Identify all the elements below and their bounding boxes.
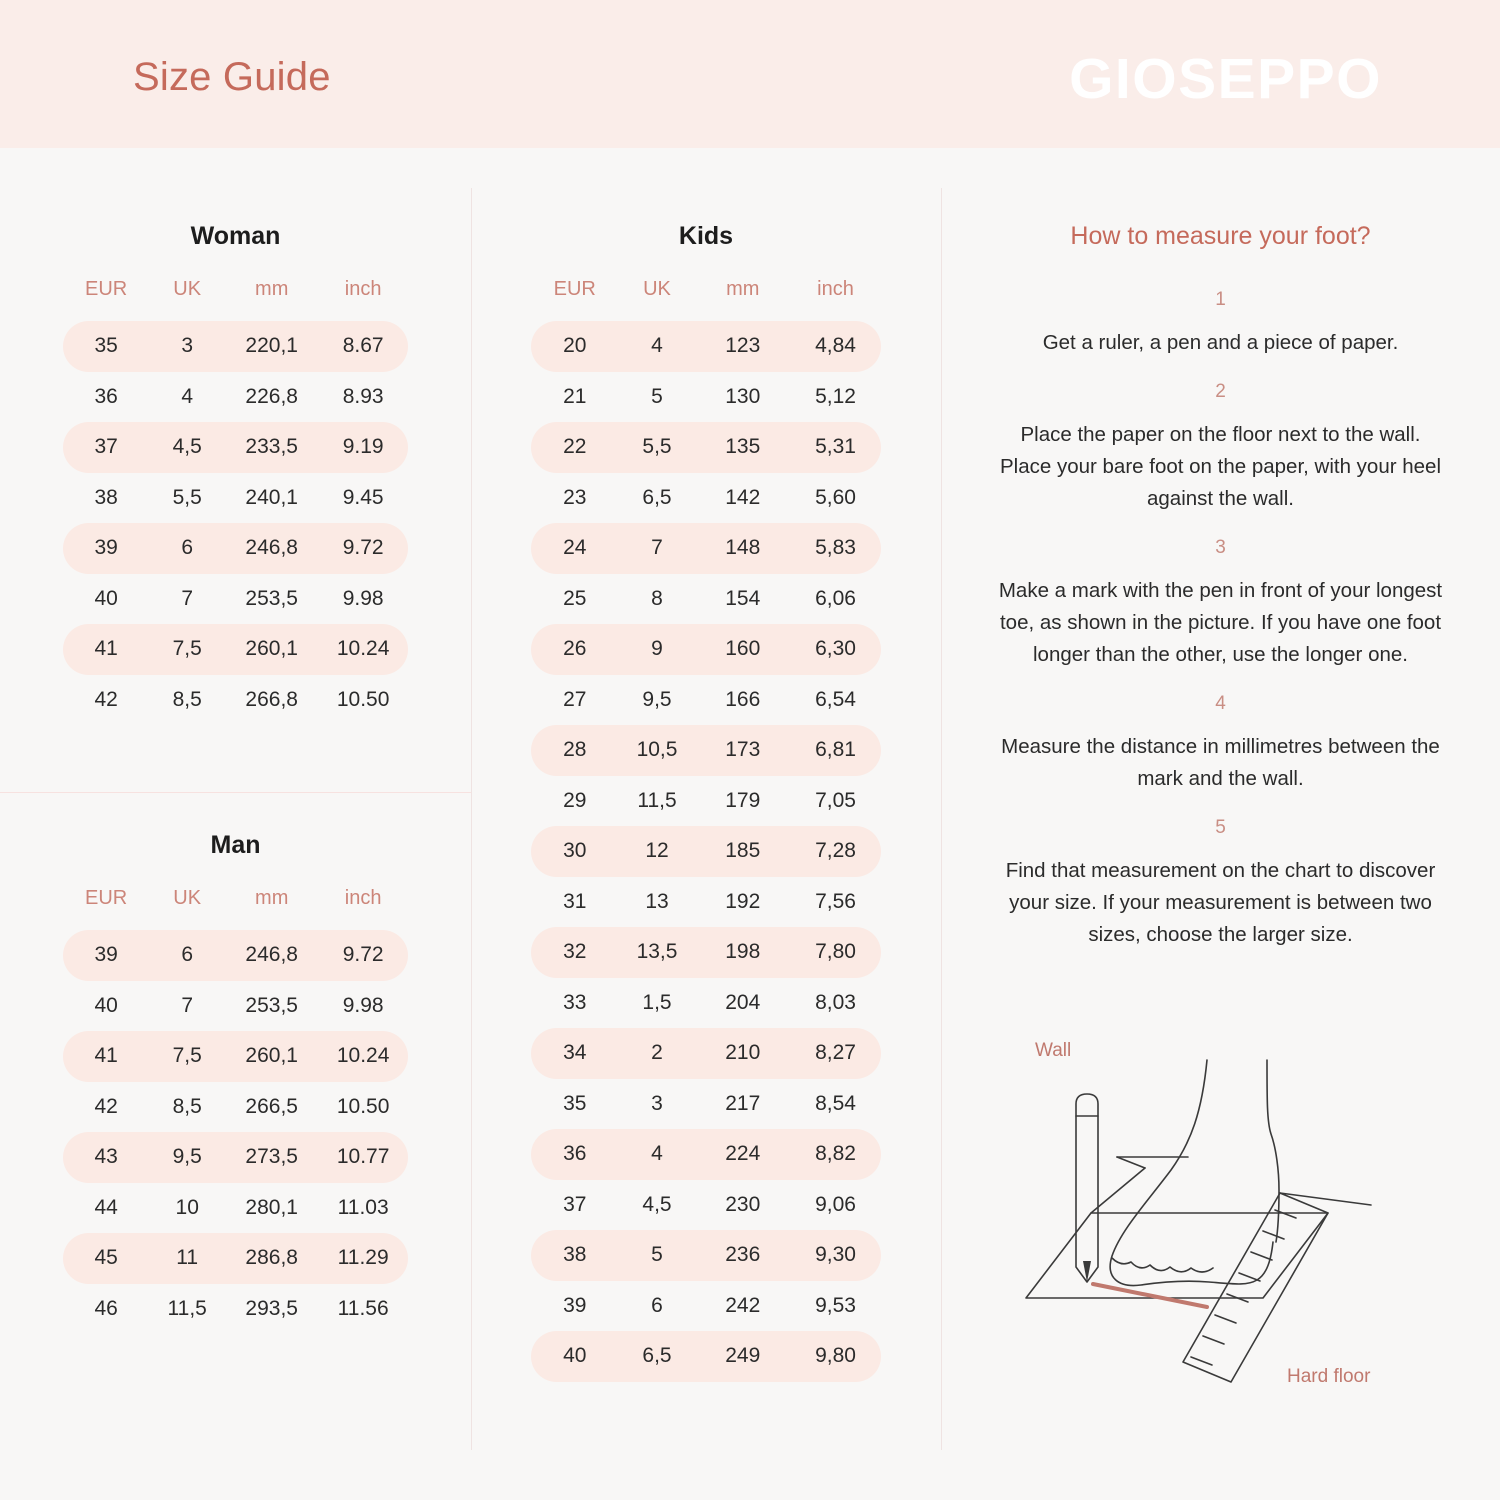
table-row: 374,5233,59.19 — [63, 422, 408, 473]
table-cell-eur: 42 — [63, 675, 149, 726]
table-cell-uk: 7 — [149, 574, 225, 625]
table-man: EUR UK mm inch 396246,89.72407253,59.984… — [63, 887, 408, 1334]
table-title-kids: Kids — [471, 222, 941, 251]
table-cell-eur: 45 — [63, 1233, 149, 1284]
paper-sheet — [1026, 1213, 1328, 1298]
table-cell-uk: 9,5 — [149, 1132, 225, 1183]
table-row: 364226,88.93 — [63, 372, 408, 423]
table-cell-inch: 8,54 — [790, 1079, 881, 1130]
how-to-measure-title: How to measure your foot? — [941, 222, 1500, 251]
table-cell-inch: 9,80 — [790, 1331, 881, 1382]
table-cell-eur: 24 — [531, 523, 619, 574]
table-row: 236,51425,60 — [531, 473, 881, 524]
table-cell-eur: 39 — [63, 930, 149, 981]
table-cell-mm: 210 — [696, 1028, 791, 1079]
pen-mark-line — [1093, 1284, 1207, 1307]
table-cell-eur: 25 — [531, 574, 619, 625]
table-cell-mm: 192 — [696, 877, 791, 928]
table-header-row: EUR UK mm inch — [531, 278, 881, 321]
table-cell-mm: 226,8 — [225, 372, 318, 423]
table-title-woman: Woman — [0, 222, 471, 251]
table-cell-uk: 4 — [619, 321, 696, 372]
size-table-man: Man EUR UK mm inch 396246,89.72407253,59… — [0, 831, 471, 1334]
table-cell-uk: 9 — [619, 624, 696, 675]
table-cell-eur: 41 — [63, 624, 149, 675]
table-cell-uk: 11 — [149, 1233, 225, 1284]
table-row: 374,52309,06 — [531, 1180, 881, 1231]
table-cell-eur: 21 — [531, 372, 619, 423]
table-cell-mm: 135 — [696, 422, 791, 473]
size-table-woman: Woman EUR UK mm inch 353220,18.67364226,… — [0, 222, 471, 725]
column-header-mm: mm — [225, 887, 318, 930]
table-cell-mm: 123 — [696, 321, 791, 372]
table-cell-inch: 10.24 — [318, 624, 408, 675]
table-row: 2691606,30 — [531, 624, 881, 675]
column-header-inch: inch — [790, 278, 881, 321]
table-header-row: EUR UK mm inch — [63, 278, 408, 321]
table-cell-mm: 266,5 — [225, 1082, 318, 1133]
table-cell-eur: 37 — [63, 422, 149, 473]
table-row: 30121857,28 — [531, 826, 881, 877]
table-cell-inch: 10.50 — [318, 1082, 408, 1133]
table-cell-mm: 230 — [696, 1180, 791, 1231]
table-row: 417,5260,110.24 — [63, 624, 408, 675]
table-cell-inch: 6,06 — [790, 574, 881, 625]
table-row: 3532178,54 — [531, 1079, 881, 1130]
table-cell-inch: 11.56 — [318, 1284, 408, 1335]
table-cell-inch: 5,31 — [790, 422, 881, 473]
table-cell-uk: 3 — [149, 321, 225, 372]
table-cell-eur: 28 — [531, 725, 619, 776]
table-cell-eur: 30 — [531, 826, 619, 877]
table-cell-inch: 8,82 — [790, 1129, 881, 1180]
table-cell-inch: 6,81 — [790, 725, 881, 776]
table-body-kids: 2041234,842151305,12225,51355,31236,5142… — [531, 321, 881, 1382]
table-cell-uk: 8 — [619, 574, 696, 625]
column-header-mm: mm — [225, 278, 318, 321]
table-row: 279,51666,54 — [531, 675, 881, 726]
table-cell-inch: 4,84 — [790, 321, 881, 372]
table-cell-eur: 40 — [531, 1331, 619, 1382]
table-row: 2151305,12 — [531, 372, 881, 423]
table-row: 3852369,30 — [531, 1230, 881, 1281]
table-cell-uk: 1,5 — [619, 978, 696, 1029]
table-row: 3642248,82 — [531, 1129, 881, 1180]
table-cell-mm: 148 — [696, 523, 791, 574]
table-cell-mm: 160 — [696, 624, 791, 675]
table-cell-mm: 260,1 — [225, 624, 318, 675]
brand-logo: GIOSEPPO — [1069, 46, 1382, 112]
table-cell-uk: 2 — [619, 1028, 696, 1079]
table-cell-eur: 38 — [531, 1230, 619, 1281]
column-header-uk: UK — [149, 278, 225, 321]
table-cell-uk: 6 — [149, 930, 225, 981]
table-cell-uk: 5 — [619, 372, 696, 423]
table-cell-mm: 142 — [696, 473, 791, 524]
table-cell-mm: 249 — [696, 1331, 791, 1382]
table-cell-mm: 173 — [696, 725, 791, 776]
table-cell-mm: 266,8 — [225, 675, 318, 726]
column-header-eur: EUR — [63, 887, 149, 930]
table-cell-eur: 38 — [63, 473, 149, 524]
column-header-uk: UK — [619, 278, 696, 321]
table-cell-inch: 10.77 — [318, 1132, 408, 1183]
table-cell-eur: 22 — [531, 422, 619, 473]
table-cell-inch: 8,27 — [790, 1028, 881, 1079]
table-cell-mm: 242 — [696, 1281, 791, 1332]
table-cell-inch: 10.50 — [318, 675, 408, 726]
table-cell-mm: 240,1 — [225, 473, 318, 524]
table-row: 3422108,27 — [531, 1028, 881, 1079]
table-cell-eur: 36 — [63, 372, 149, 423]
table-cell-inch: 5,12 — [790, 372, 881, 423]
table-cell-inch: 9,30 — [790, 1230, 881, 1281]
table-row: 31131927,56 — [531, 877, 881, 928]
table-cell-inch: 6,54 — [790, 675, 881, 726]
table-cell-mm: 260,1 — [225, 1031, 318, 1082]
table-cell-mm: 246,8 — [225, 930, 318, 981]
table-row: 396246,89.72 — [63, 930, 408, 981]
step-text: Measure the distance in millimetres betw… — [941, 731, 1500, 795]
table-cell-uk: 10 — [149, 1183, 225, 1234]
table-cell-uk: 5,5 — [619, 422, 696, 473]
table-cell-eur: 35 — [531, 1079, 619, 1130]
page-header: Size Guide GIOSEPPO — [0, 0, 1500, 148]
table-header-row: EUR UK mm inch — [63, 887, 408, 930]
table-row: 353220,18.67 — [63, 321, 408, 372]
foot-outline-back — [1267, 1060, 1279, 1242]
table-row: 3213,51987,80 — [531, 927, 881, 978]
column-header-inch: inch — [318, 887, 408, 930]
table-row: 4611,5293,511.56 — [63, 1284, 408, 1335]
table-cell-uk: 6 — [149, 523, 225, 574]
table-cell-mm: 273,5 — [225, 1132, 318, 1183]
table-cell-inch: 9,06 — [790, 1180, 881, 1231]
table-row: 407253,59.98 — [63, 981, 408, 1032]
table-cell-inch: 11.03 — [318, 1183, 408, 1234]
column-header-uk: UK — [149, 887, 225, 930]
table-cell-eur: 35 — [63, 321, 149, 372]
how-to-measure-section: How to measure your foot? 1Get a ruler, … — [941, 222, 1500, 973]
size-guide-page: Size Guide GIOSEPPO Woman EUR UK mm inch… — [0, 0, 1500, 1500]
table-cell-uk: 11,5 — [149, 1284, 225, 1335]
table-cell-mm: 130 — [696, 372, 791, 423]
how-to-steps: 1Get a ruler, a pen and a piece of paper… — [941, 289, 1500, 951]
table-cell-mm: 246,8 — [225, 523, 318, 574]
table-cell-eur: 29 — [531, 776, 619, 827]
table-cell-mm: 253,5 — [225, 574, 318, 625]
step-number: 1 — [941, 289, 1500, 311]
table-cell-eur: 32 — [531, 927, 619, 978]
table-cell-eur: 39 — [63, 523, 149, 574]
table-cell-mm: 154 — [696, 574, 791, 625]
table-cell-mm: 179 — [696, 776, 791, 827]
table-cell-uk: 11,5 — [619, 776, 696, 827]
table-row: 396246,89.72 — [63, 523, 408, 574]
table-cell-uk: 5,5 — [149, 473, 225, 524]
table-title-man: Man — [0, 831, 471, 860]
table-cell-eur: 34 — [531, 1028, 619, 1079]
table-cell-uk: 5 — [619, 1230, 696, 1281]
table-cell-inch: 7,80 — [790, 927, 881, 978]
table-cell-mm: 233,5 — [225, 422, 318, 473]
table-cell-uk: 7,5 — [149, 624, 225, 675]
step-text: Make a mark with the pen in front of you… — [941, 575, 1500, 671]
table-cell-eur: 40 — [63, 574, 149, 625]
table-cell-eur: 23 — [531, 473, 619, 524]
table-row: 3962429,53 — [531, 1281, 881, 1332]
table-cell-eur: 39 — [531, 1281, 619, 1332]
table-row: 331,52048,03 — [531, 978, 881, 1029]
table-cell-inch: 6,30 — [790, 624, 881, 675]
table-cell-inch: 5,83 — [790, 523, 881, 574]
table-cell-uk: 4,5 — [619, 1180, 696, 1231]
table-cell-uk: 4,5 — [149, 422, 225, 473]
step-number: 2 — [941, 381, 1500, 403]
table-cell-mm: 286,8 — [225, 1233, 318, 1284]
toes-detail — [1112, 1258, 1213, 1272]
step-text: Place the paper on the floor next to the… — [941, 419, 1500, 515]
table-row: 439,5273,510.77 — [63, 1132, 408, 1183]
pencil — [1076, 1094, 1098, 1282]
table-body-man: 396246,89.72407253,59.98417,5260,110.244… — [63, 930, 408, 1334]
table-cell-inch: 7,28 — [790, 826, 881, 877]
ruler — [1183, 1193, 1328, 1382]
table-cell-mm: 185 — [696, 826, 791, 877]
table-cell-uk: 6,5 — [619, 1331, 696, 1382]
table-cell-eur: 41 — [63, 1031, 149, 1082]
table-row: 417,5260,110.24 — [63, 1031, 408, 1082]
table-row: 2581546,06 — [531, 574, 881, 625]
table-cell-inch: 9.98 — [318, 574, 408, 625]
table-cell-eur: 31 — [531, 877, 619, 928]
step-number: 3 — [941, 537, 1500, 559]
table-cell-inch: 11.29 — [318, 1233, 408, 1284]
label-hard-floor: Hard floor — [1287, 1366, 1370, 1388]
table-cell-eur: 37 — [531, 1180, 619, 1231]
table-cell-eur: 42 — [63, 1082, 149, 1133]
table-cell-inch: 10.24 — [318, 1031, 408, 1082]
page-title: Size Guide — [133, 55, 331, 100]
table-cell-mm: 220,1 — [225, 321, 318, 372]
foot-measure-illustration: Wall Hard floor — [995, 1030, 1465, 1405]
table-cell-uk: 13 — [619, 877, 696, 928]
table-row: 428,5266,510.50 — [63, 1082, 408, 1133]
table-cell-mm: 224 — [696, 1129, 791, 1180]
table-cell-uk: 6,5 — [619, 473, 696, 524]
table-cell-uk: 7 — [619, 523, 696, 574]
table-cell-uk: 7 — [149, 981, 225, 1032]
table-cell-eur: 27 — [531, 675, 619, 726]
step-number: 5 — [941, 817, 1500, 839]
table-cell-mm: 293,5 — [225, 1284, 318, 1335]
foot-outline-front — [1110, 1060, 1273, 1286]
foot-diagram-svg — [995, 1030, 1465, 1405]
table-cell-uk: 6 — [619, 1281, 696, 1332]
table-row: 4410280,111.03 — [63, 1183, 408, 1234]
table-cell-uk: 4 — [619, 1129, 696, 1180]
step-number: 4 — [941, 693, 1500, 715]
table-cell-eur: 20 — [531, 321, 619, 372]
table-cell-mm: 204 — [696, 978, 791, 1029]
table-cell-eur: 40 — [63, 981, 149, 1032]
table-cell-mm: 198 — [696, 927, 791, 978]
table-cell-mm: 236 — [696, 1230, 791, 1281]
size-table-kids: Kids EUR UK mm inch 2041234,842151305,12… — [471, 222, 941, 1382]
table-cell-inch: 9.72 — [318, 930, 408, 981]
table-cell-uk: 10,5 — [619, 725, 696, 776]
table-cell-inch: 7,56 — [790, 877, 881, 928]
column-header-mm: mm — [696, 278, 791, 321]
table-woman: EUR UK mm inch 353220,18.67364226,88.933… — [63, 278, 408, 725]
table-cell-uk: 4 — [149, 372, 225, 423]
table-cell-uk: 12 — [619, 826, 696, 877]
table-row: 225,51355,31 — [531, 422, 881, 473]
table-cell-inch: 9.45 — [318, 473, 408, 524]
column-header-eur: EUR — [63, 278, 149, 321]
column-header-inch: inch — [318, 278, 408, 321]
table-cell-uk: 9,5 — [619, 675, 696, 726]
table-cell-inch: 5,60 — [790, 473, 881, 524]
label-wall: Wall — [1035, 1040, 1071, 1062]
table-cell-uk: 8,5 — [149, 1082, 225, 1133]
table-cell-inch: 9.19 — [318, 422, 408, 473]
step-text: Find that measurement on the chart to di… — [941, 855, 1500, 951]
table-row: 4511286,811.29 — [63, 1233, 408, 1284]
table-cell-mm: 217 — [696, 1079, 791, 1130]
table-cell-inch: 9.72 — [318, 523, 408, 574]
woman-man-divider — [0, 792, 471, 793]
table-cell-eur: 26 — [531, 624, 619, 675]
table-cell-uk: 7,5 — [149, 1031, 225, 1082]
table-row: 385,5240,19.45 — [63, 473, 408, 524]
table-cell-eur: 43 — [63, 1132, 149, 1183]
table-cell-mm: 280,1 — [225, 1183, 318, 1234]
table-cell-uk: 8,5 — [149, 675, 225, 726]
column-header-eur: EUR — [531, 278, 619, 321]
table-cell-uk: 13,5 — [619, 927, 696, 978]
table-cell-inch: 9,53 — [790, 1281, 881, 1332]
table-cell-inch: 8.93 — [318, 372, 408, 423]
table-row: 2911,51797,05 — [531, 776, 881, 827]
table-cell-eur: 36 — [531, 1129, 619, 1180]
table-row: 2810,51736,81 — [531, 725, 881, 776]
table-cell-eur: 46 — [63, 1284, 149, 1335]
table-body-woman: 353220,18.67364226,88.93374,5233,59.1938… — [63, 321, 408, 725]
table-cell-inch: 9.98 — [318, 981, 408, 1032]
table-cell-mm: 166 — [696, 675, 791, 726]
table-row: 2471485,83 — [531, 523, 881, 574]
table-cell-eur: 44 — [63, 1183, 149, 1234]
table-kids: EUR UK mm inch 2041234,842151305,12225,5… — [531, 278, 881, 1382]
table-cell-inch: 8.67 — [318, 321, 408, 372]
table-row: 428,5266,810.50 — [63, 675, 408, 726]
table-row: 2041234,84 — [531, 321, 881, 372]
table-cell-inch: 8,03 — [790, 978, 881, 1029]
table-row: 407253,59.98 — [63, 574, 408, 625]
table-cell-uk: 3 — [619, 1079, 696, 1130]
table-cell-inch: 7,05 — [790, 776, 881, 827]
table-row: 406,52499,80 — [531, 1331, 881, 1382]
table-cell-mm: 253,5 — [225, 981, 318, 1032]
step-text: Get a ruler, a pen and a piece of paper. — [941, 327, 1500, 359]
table-cell-eur: 33 — [531, 978, 619, 1029]
